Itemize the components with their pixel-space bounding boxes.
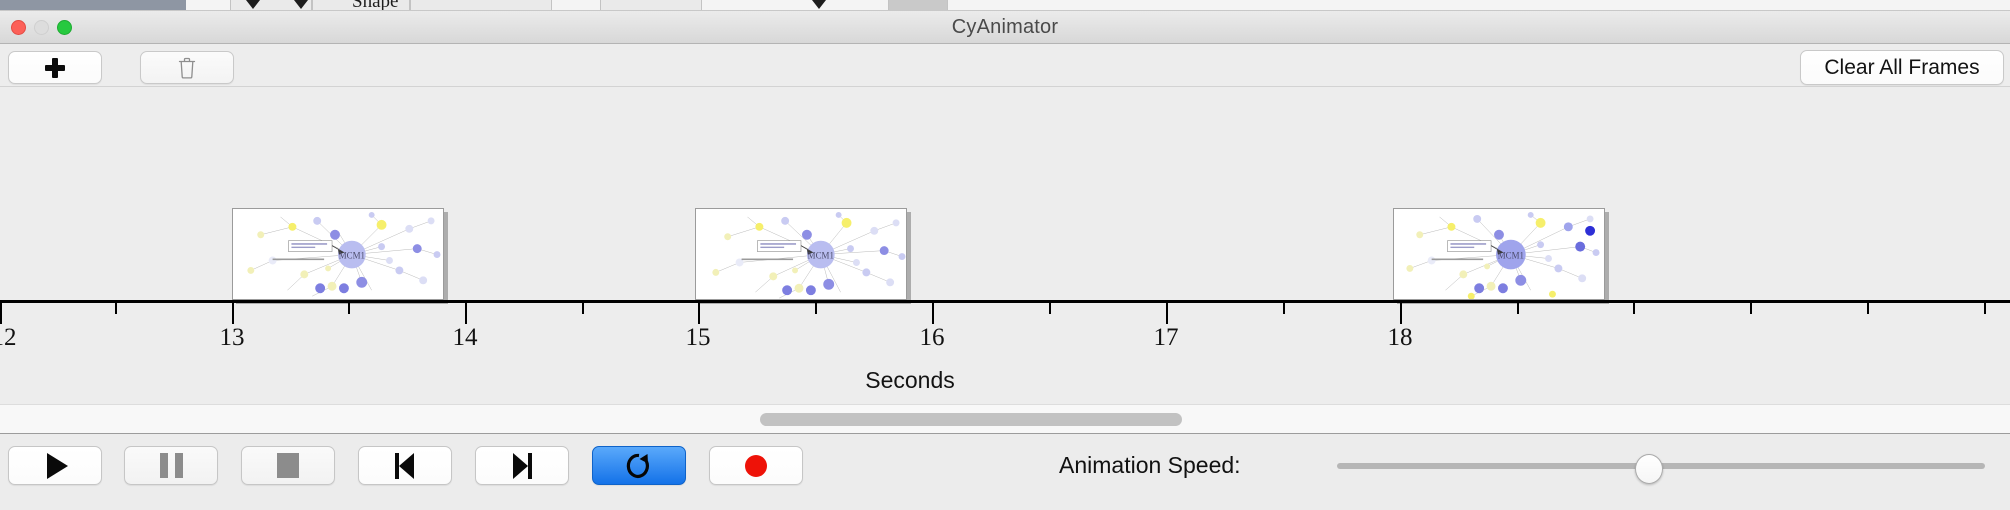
axis-tick-minor bbox=[815, 303, 817, 314]
delete-frame-button[interactable] bbox=[140, 51, 234, 84]
axis-tick-major bbox=[1400, 303, 1402, 324]
axis-tick-major bbox=[932, 303, 934, 324]
axis-tick-minor bbox=[1633, 303, 1635, 314]
background-window-strip: Shape bbox=[0, 0, 2010, 11]
network-thumbnail-graphic-2: MCM1 bbox=[696, 209, 906, 300]
axis-tick-label: 13 bbox=[220, 324, 245, 352]
axis-tick-major bbox=[0, 303, 2, 324]
skip-to-end-button[interactable] bbox=[475, 446, 569, 485]
frame-thumbnail-2[interactable]: MCM1 bbox=[695, 208, 907, 300]
axis-tick-label: 18 bbox=[1388, 324, 1413, 352]
axis-tick-minor bbox=[348, 303, 350, 314]
timeline-scrollbar-thumb[interactable] bbox=[760, 413, 1182, 426]
title-bar: CyAnimator bbox=[0, 11, 2010, 44]
trash-icon bbox=[178, 57, 196, 79]
animation-speed-slider[interactable] bbox=[1337, 446, 1985, 485]
axis-tick-major bbox=[465, 303, 467, 324]
play-button[interactable] bbox=[8, 446, 102, 485]
timeline-panel[interactable]: MCM1 bbox=[0, 87, 2010, 404]
background-caret-icon-3 bbox=[812, 0, 826, 9]
axis-caption-label: Seconds bbox=[865, 367, 955, 393]
animation-speed-label: Animation Speed: bbox=[1059, 446, 1241, 485]
clear-all-frames-button[interactable]: Clear All Frames bbox=[1800, 50, 2004, 85]
cyanimator-window: Shape CyAnimator Clear All Frames bbox=[0, 0, 2010, 510]
hub-node-label-2: MCM1 bbox=[808, 251, 834, 261]
loop-icon bbox=[626, 452, 652, 480]
stop-icon bbox=[277, 453, 299, 478]
axis-tick-label: 17 bbox=[1154, 324, 1179, 352]
axis-tick-major bbox=[1166, 303, 1168, 324]
loop-button[interactable] bbox=[592, 446, 686, 485]
timeline-scrollbar[interactable] bbox=[0, 404, 2010, 434]
network-thumbnail-graphic-1: MCM1 bbox=[233, 209, 443, 300]
axis-caption: Seconds bbox=[0, 367, 2010, 394]
background-caret-icon-2 bbox=[294, 0, 308, 9]
axis-tick-minor bbox=[115, 303, 117, 314]
record-button[interactable] bbox=[709, 446, 803, 485]
axis-tick-label: 15 bbox=[686, 324, 711, 352]
pause-button[interactable] bbox=[124, 446, 218, 485]
axis-tick-minor bbox=[1750, 303, 1752, 314]
axis-tick-minor bbox=[1283, 303, 1285, 314]
timeline-axis bbox=[0, 300, 2010, 303]
pause-icon bbox=[160, 453, 183, 478]
page-title: CyAnimator bbox=[0, 11, 2010, 44]
axis-tick-minor bbox=[1867, 303, 1869, 314]
axis-tick-label: 14 bbox=[453, 324, 478, 352]
skip-start-icon bbox=[392, 453, 418, 479]
axis-tick-major bbox=[232, 303, 234, 324]
play-icon bbox=[47, 453, 68, 479]
clear-all-frames-label: Clear All Frames bbox=[1824, 56, 1979, 80]
plus-icon bbox=[44, 57, 66, 79]
network-thumbnail-graphic-3: MCM1 bbox=[1394, 209, 1604, 300]
skip-to-start-button[interactable] bbox=[358, 446, 452, 485]
toolbar: Clear All Frames bbox=[0, 44, 2010, 87]
axis-tick-label: 12 bbox=[0, 324, 17, 352]
hub-node-label-1: MCM1 bbox=[339, 251, 365, 261]
axis-tick-label: 16 bbox=[920, 324, 945, 352]
frame-thumbnail-3[interactable]: MCM1 bbox=[1393, 208, 1605, 300]
transport-bar: Animation Speed: bbox=[0, 434, 2010, 510]
axis-tick-major bbox=[698, 303, 700, 324]
animation-speed-knob[interactable] bbox=[1635, 454, 1663, 484]
axis-tick-minor bbox=[1984, 303, 1986, 314]
frame-thumbnail-1[interactable]: MCM1 bbox=[232, 208, 444, 300]
background-caret-icon-1 bbox=[246, 0, 260, 9]
record-icon bbox=[745, 455, 767, 477]
skip-end-icon bbox=[509, 453, 535, 479]
axis-tick-minor bbox=[582, 303, 584, 314]
hub-node-label-3: MCM1 bbox=[1498, 251, 1524, 261]
stop-button[interactable] bbox=[241, 446, 335, 485]
axis-tick-minor bbox=[1517, 303, 1519, 314]
axis-tick-minor bbox=[1049, 303, 1051, 314]
add-frame-button[interactable] bbox=[8, 51, 102, 84]
